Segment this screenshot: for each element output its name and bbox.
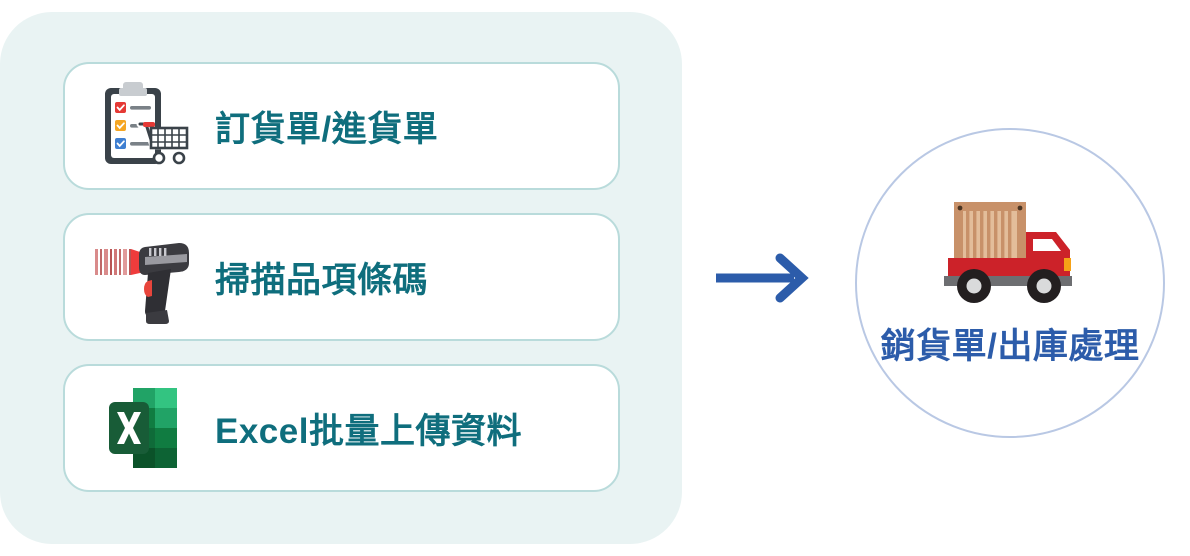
barcode-scanner-icon: [93, 225, 197, 329]
source-card-excel-upload[interactable]: Excel批量上傳資料: [63, 364, 620, 492]
arrow-right-icon: [712, 248, 816, 308]
result-circle-outbound[interactable]: 銷貨單/出庫處理: [855, 128, 1165, 438]
delivery-truck-icon: [930, 192, 1090, 312]
source-card-label: 訂貨單/進貨單: [215, 101, 438, 152]
source-card-label: 掃描品項條碼: [215, 252, 428, 303]
flow-diagram-canvas: 訂貨單/進貨單: [0, 0, 1190, 556]
source-card-label: Excel批量上傳資料: [215, 403, 522, 454]
source-card-barcode-scan[interactable]: 掃描品項條碼: [63, 213, 620, 341]
excel-file-icon: [93, 376, 197, 480]
result-label: 銷貨單/出庫處理: [881, 318, 1140, 369]
source-card-order-receipt[interactable]: 訂貨單/進貨單: [63, 62, 620, 190]
clipboard-cart-icon: [93, 74, 197, 178]
